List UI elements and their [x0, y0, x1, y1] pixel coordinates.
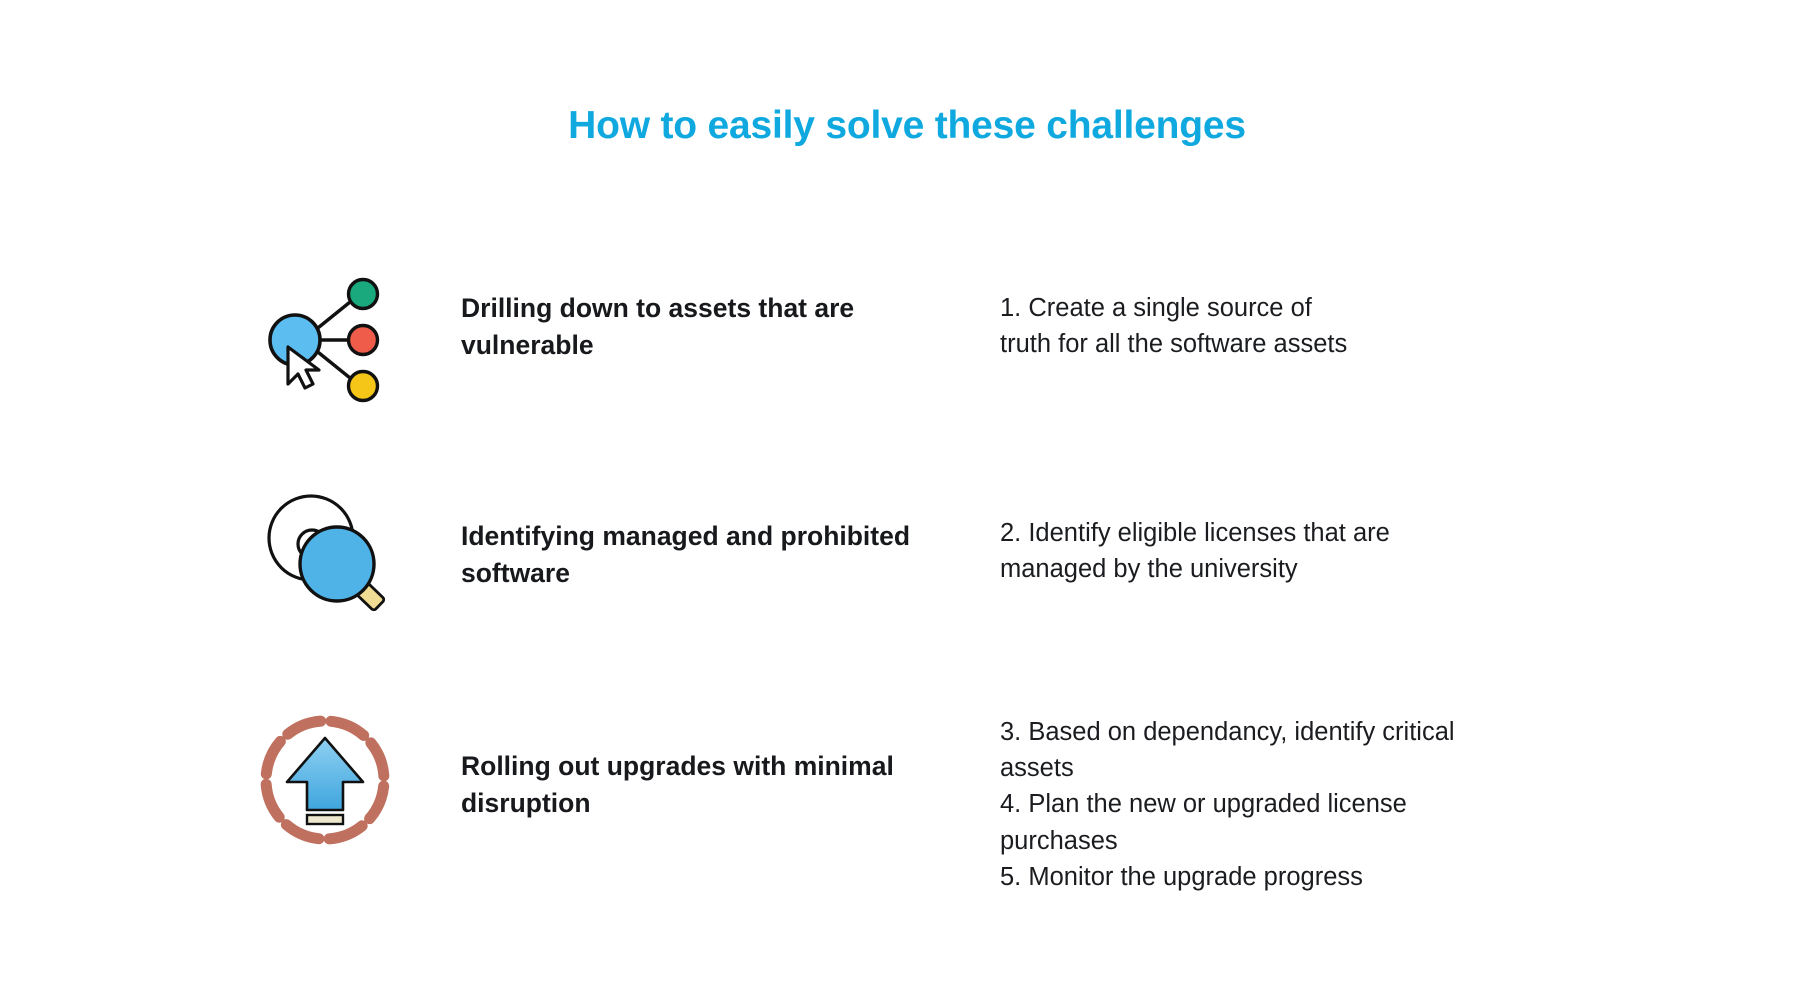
solution-line: 5. Monitor the upgrade progress	[1000, 859, 1600, 895]
solution-line: 4. Plan the new or upgraded license	[1000, 786, 1600, 822]
slide-canvas: How to easily solve these challenges	[0, 0, 1814, 994]
magnifier-icon	[255, 482, 395, 622]
solution-line: 2. Identify eligible licenses that are	[1000, 515, 1600, 551]
list-item: Drilling down to assets that are vulnera…	[0, 248, 1814, 476]
list-item: Identifying managed and prohibited softw…	[0, 476, 1814, 704]
solution-line: 1. Create a single source of	[1000, 290, 1600, 326]
challenge-text: Drilling down to assets that are vulnera…	[461, 290, 931, 363]
challenge-text: Identifying managed and prohibited softw…	[461, 518, 931, 591]
upgrade-arrow-dashed-circle-icon	[255, 710, 395, 850]
challenge-text: Rolling out upgrades with minimal disrup…	[461, 748, 931, 821]
page-title: How to easily solve these challenges	[0, 104, 1814, 149]
challenge-solution-list: Drilling down to assets that are vulnera…	[0, 248, 1814, 932]
share-network-cursor-icon	[255, 272, 395, 412]
solution-line: 3. Based on dependancy, identify critica…	[1000, 714, 1600, 750]
solution-text: 3. Based on dependancy, identify critica…	[1000, 714, 1600, 895]
list-item: Rolling out upgrades with minimal disrup…	[0, 704, 1814, 932]
solution-line: managed by the university	[1000, 551, 1600, 587]
solution-line: purchases	[1000, 823, 1600, 859]
solution-text: 1. Create a single source of truth for a…	[1000, 290, 1600, 362]
solution-line: assets	[1000, 750, 1600, 786]
solution-text: 2. Identify eligible licenses that are m…	[1000, 515, 1600, 587]
solution-line: truth for all the software assets	[1000, 326, 1600, 362]
